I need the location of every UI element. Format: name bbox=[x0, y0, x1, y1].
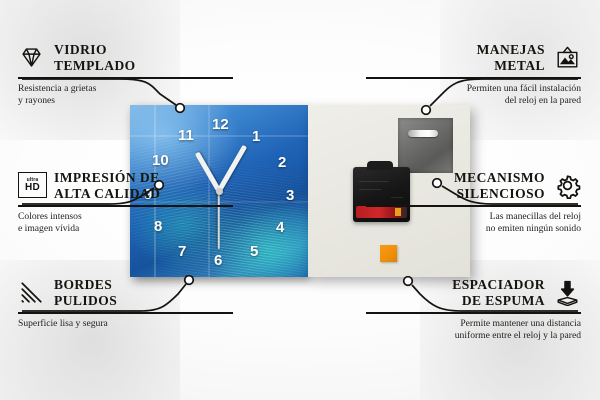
feature-espaciador-espuma: ESPACIADORDE ESPUMA Permite mantener una… bbox=[366, 277, 581, 342]
feature-header: BORDESPULIDOS bbox=[18, 277, 233, 308]
feature-description: Resistencia a grietasy rayones bbox=[18, 83, 233, 108]
feature-header: ultra HD IMPRESIÓN DEALTA CALIDAD bbox=[18, 170, 233, 201]
feature-description: Superficie lisa y segura bbox=[18, 318, 233, 330]
feature-description: Permite mantener una distanciauniforme e… bbox=[366, 318, 581, 343]
feature-impresion-alta-calidad: ultra HD IMPRESIÓN DEALTA CALIDAD Colore… bbox=[18, 170, 233, 235]
feature-description: Permiten una fácil instalacióndel reloj … bbox=[366, 83, 581, 108]
ultra-hd-icon-main-text: HD bbox=[25, 183, 40, 193]
feature-header: VIDRIOTEMPLADO bbox=[18, 42, 233, 73]
picture-frame-icon bbox=[554, 44, 581, 71]
feature-divider bbox=[366, 77, 581, 79]
infographic-canvas: 12 1 2 3 4 5 6 7 8 9 10 11 bbox=[0, 0, 600, 400]
gear-icon bbox=[554, 172, 581, 199]
feature-header: MECANISMOSILENCIOSO bbox=[366, 170, 581, 201]
feature-divider bbox=[18, 312, 233, 314]
feature-description: Colores intensose imagen vívida bbox=[18, 211, 233, 236]
polished-edge-icon bbox=[18, 279, 45, 306]
ultra-hd-icon: ultra HD bbox=[18, 172, 45, 199]
feature-divider bbox=[18, 205, 233, 207]
feature-divider bbox=[18, 77, 233, 79]
diamond-icon bbox=[18, 44, 45, 71]
feature-divider bbox=[366, 205, 581, 207]
feature-header: MANEJASMETAL bbox=[366, 42, 581, 73]
feature-manejas-metal: MANEJASMETAL Permiten una fácil instalac… bbox=[366, 42, 581, 107]
feature-title: ESPACIADORDE ESPUMA bbox=[452, 277, 545, 308]
feature-header: ESPACIADORDE ESPUMA bbox=[366, 277, 581, 308]
foam-spacer-icon bbox=[554, 279, 581, 306]
feature-description: Las manecillas del relojno emiten ningún… bbox=[366, 211, 581, 236]
feature-mecanismo-silencioso: MECANISMOSILENCIOSO Las manecillas del r… bbox=[366, 170, 581, 235]
feature-vidrio-templado: VIDRIOTEMPLADO Resistencia a grietasy ra… bbox=[18, 42, 233, 107]
feature-title: BORDESPULIDOS bbox=[54, 277, 117, 308]
feature-title: MECANISMOSILENCIOSO bbox=[454, 170, 545, 201]
feature-title: MANEJASMETAL bbox=[477, 42, 545, 73]
feature-divider bbox=[366, 312, 581, 314]
feature-bordes-pulidos: BORDESPULIDOS Superficie lisa y segura bbox=[18, 277, 233, 330]
feature-title: IMPRESIÓN DEALTA CALIDAD bbox=[54, 170, 160, 201]
feature-title: VIDRIOTEMPLADO bbox=[54, 42, 136, 73]
